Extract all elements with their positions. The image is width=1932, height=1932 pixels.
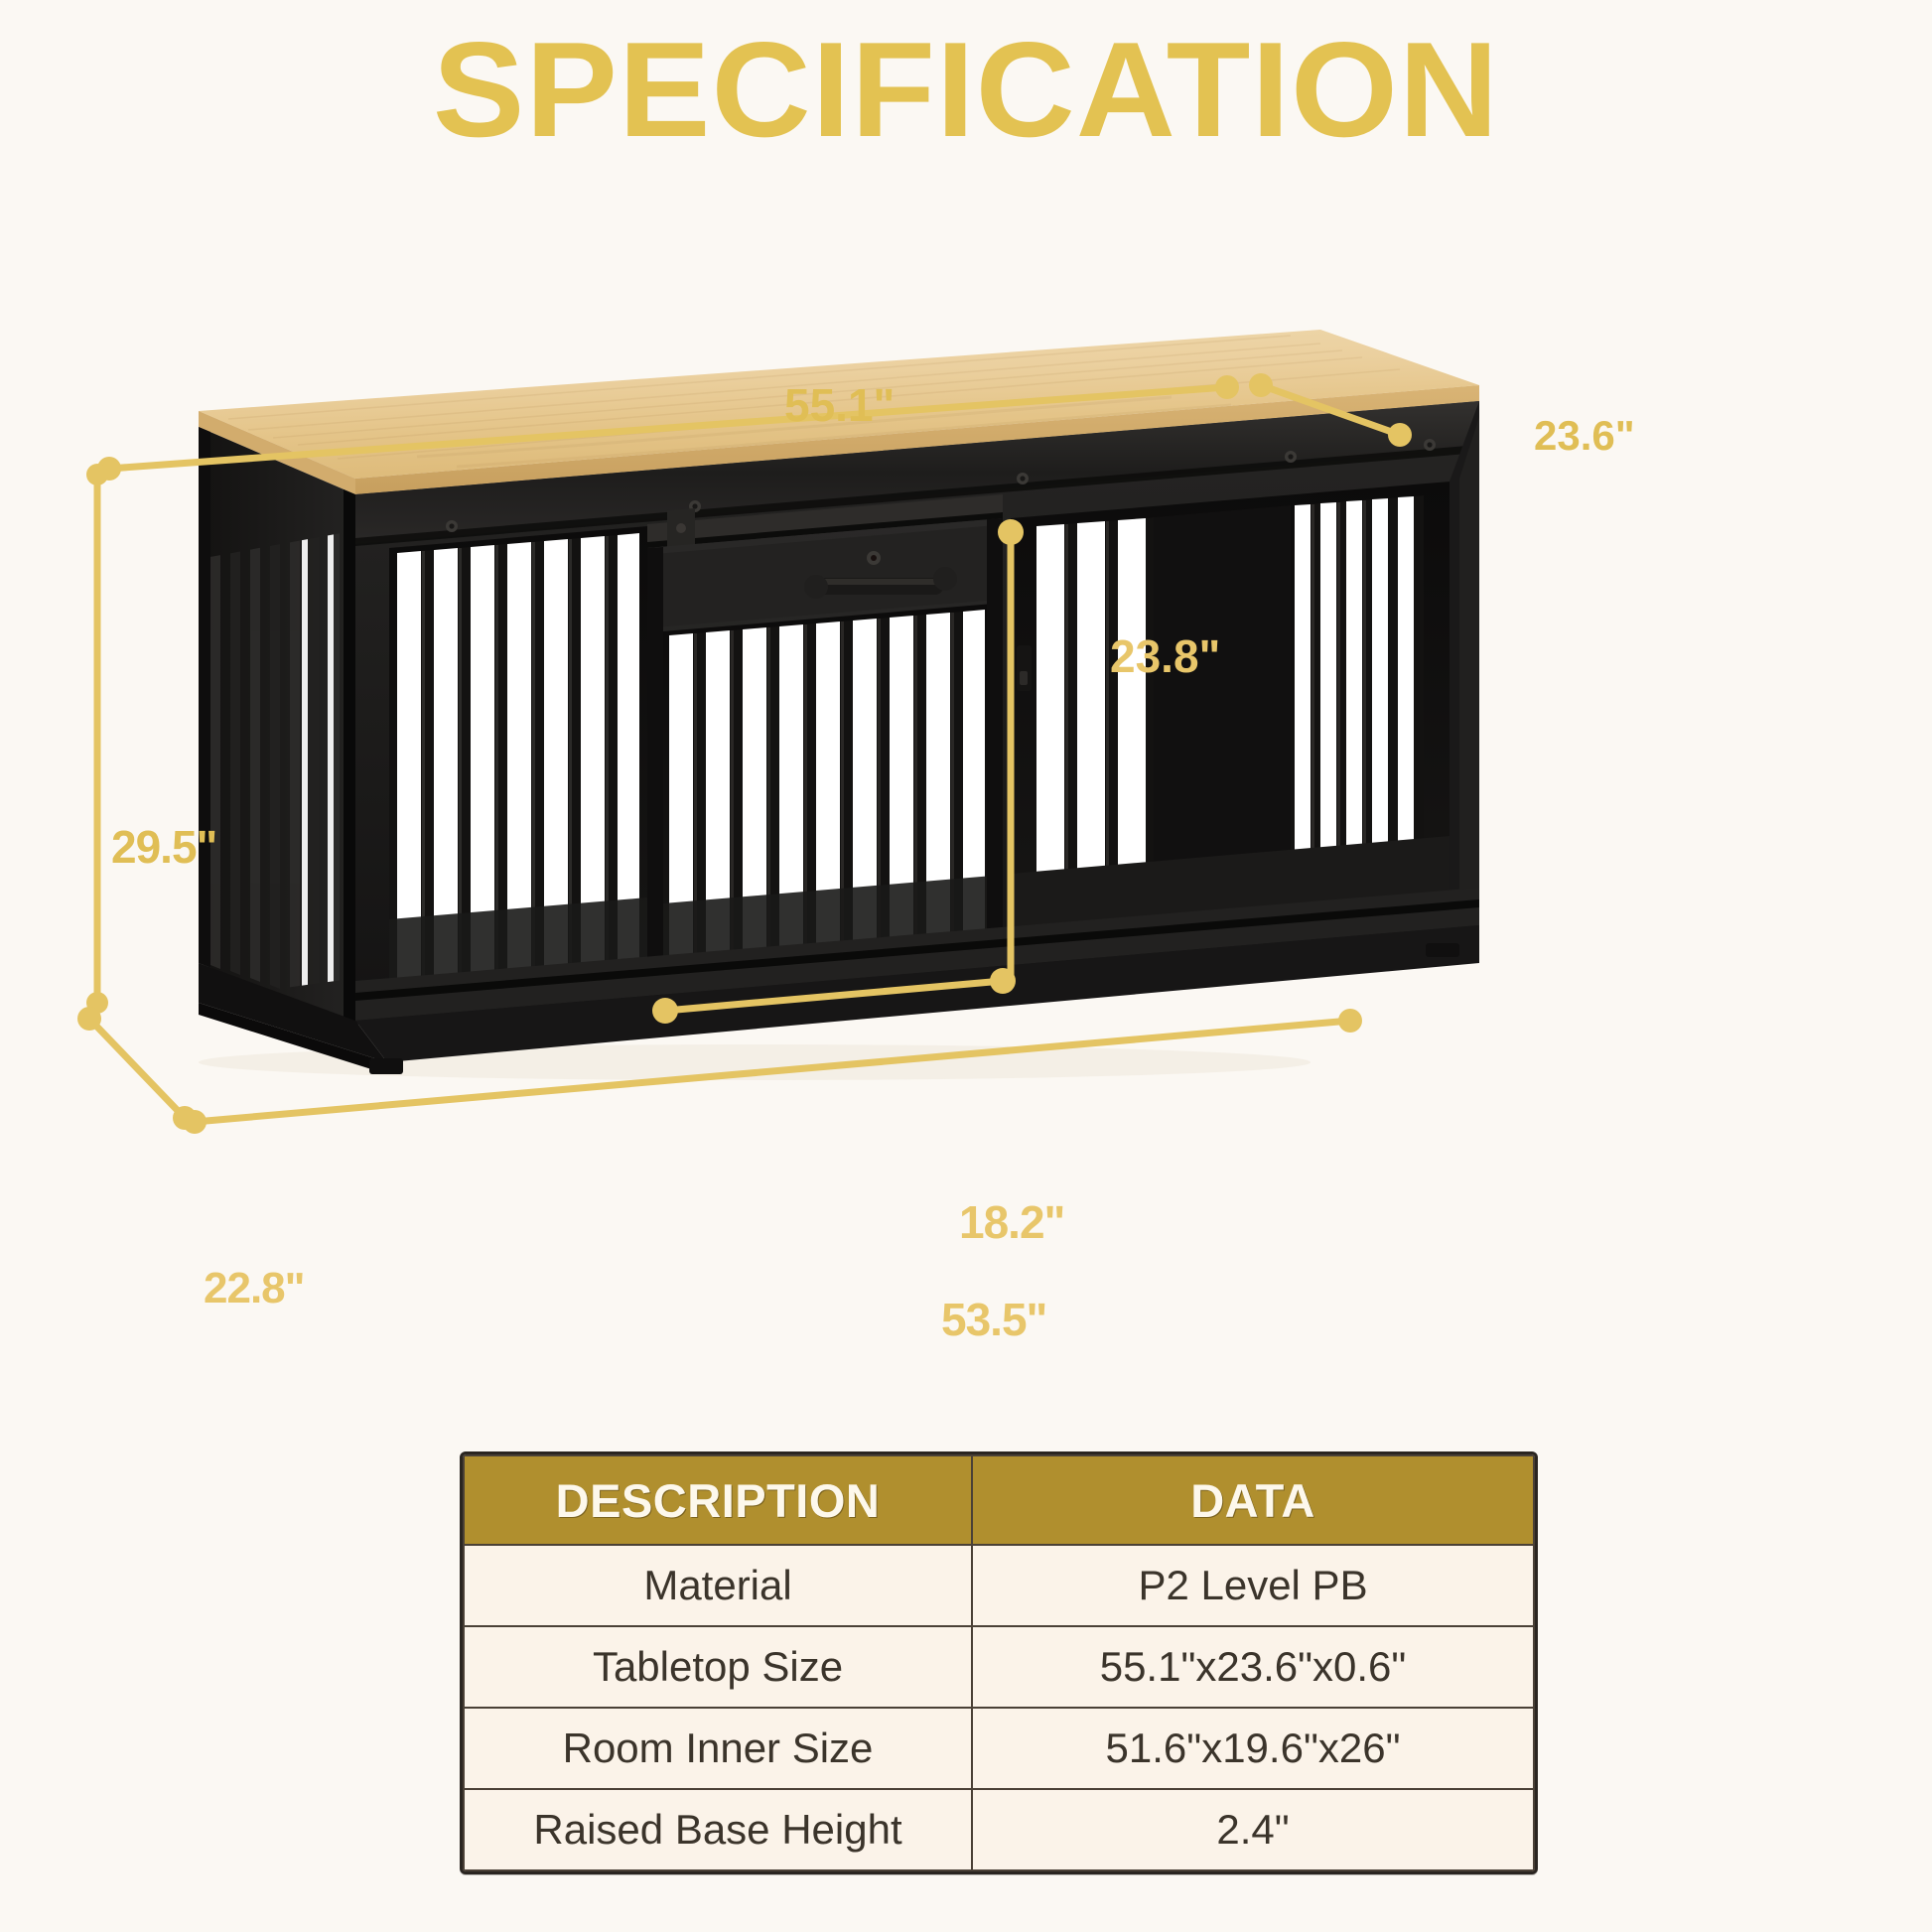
dimension-label-top-depth: 23.6" — [1534, 415, 1635, 457]
table-header-row: DESCRIPTION DATA — [464, 1455, 1534, 1545]
cell-data: 2.4" — [972, 1789, 1534, 1870]
dimension-label-base-width: 53.5" — [941, 1297, 1046, 1342]
dimension-label-base-depth: 22.8" — [204, 1267, 305, 1311]
cell-data: 55.1"x23.6"x0.6" — [972, 1626, 1534, 1708]
cell-description: Material — [464, 1545, 972, 1626]
dimension-label-top-width: 55.1" — [784, 382, 895, 428]
cell-description: Raised Base Height — [464, 1789, 972, 1870]
cell-description: Tabletop Size — [464, 1626, 972, 1708]
cell-description: Room Inner Size — [464, 1708, 972, 1789]
dimension-label-overall-height: 29.5" — [111, 824, 216, 870]
dimension-label-door-height: 23.8" — [1110, 633, 1220, 679]
dimension-label-door-width: 18.2" — [959, 1199, 1064, 1245]
table-row: Room Inner Size 51.6"x19.6"x26" — [464, 1708, 1534, 1789]
table-row: Tabletop Size 55.1"x23.6"x0.6" — [464, 1626, 1534, 1708]
column-header-data: DATA — [972, 1455, 1534, 1545]
column-header-description: DESCRIPTION — [464, 1455, 972, 1545]
page-title: SPECIFICATION — [0, 22, 1932, 157]
table-row: Raised Base Height 2.4" — [464, 1789, 1534, 1870]
table-row: Material P2 Level PB — [464, 1545, 1534, 1626]
cell-data: P2 Level PB — [972, 1545, 1534, 1626]
specification-table: DESCRIPTION DATA Material P2 Level PB Ta… — [460, 1451, 1538, 1874]
cell-data: 51.6"x19.6"x26" — [972, 1708, 1534, 1789]
